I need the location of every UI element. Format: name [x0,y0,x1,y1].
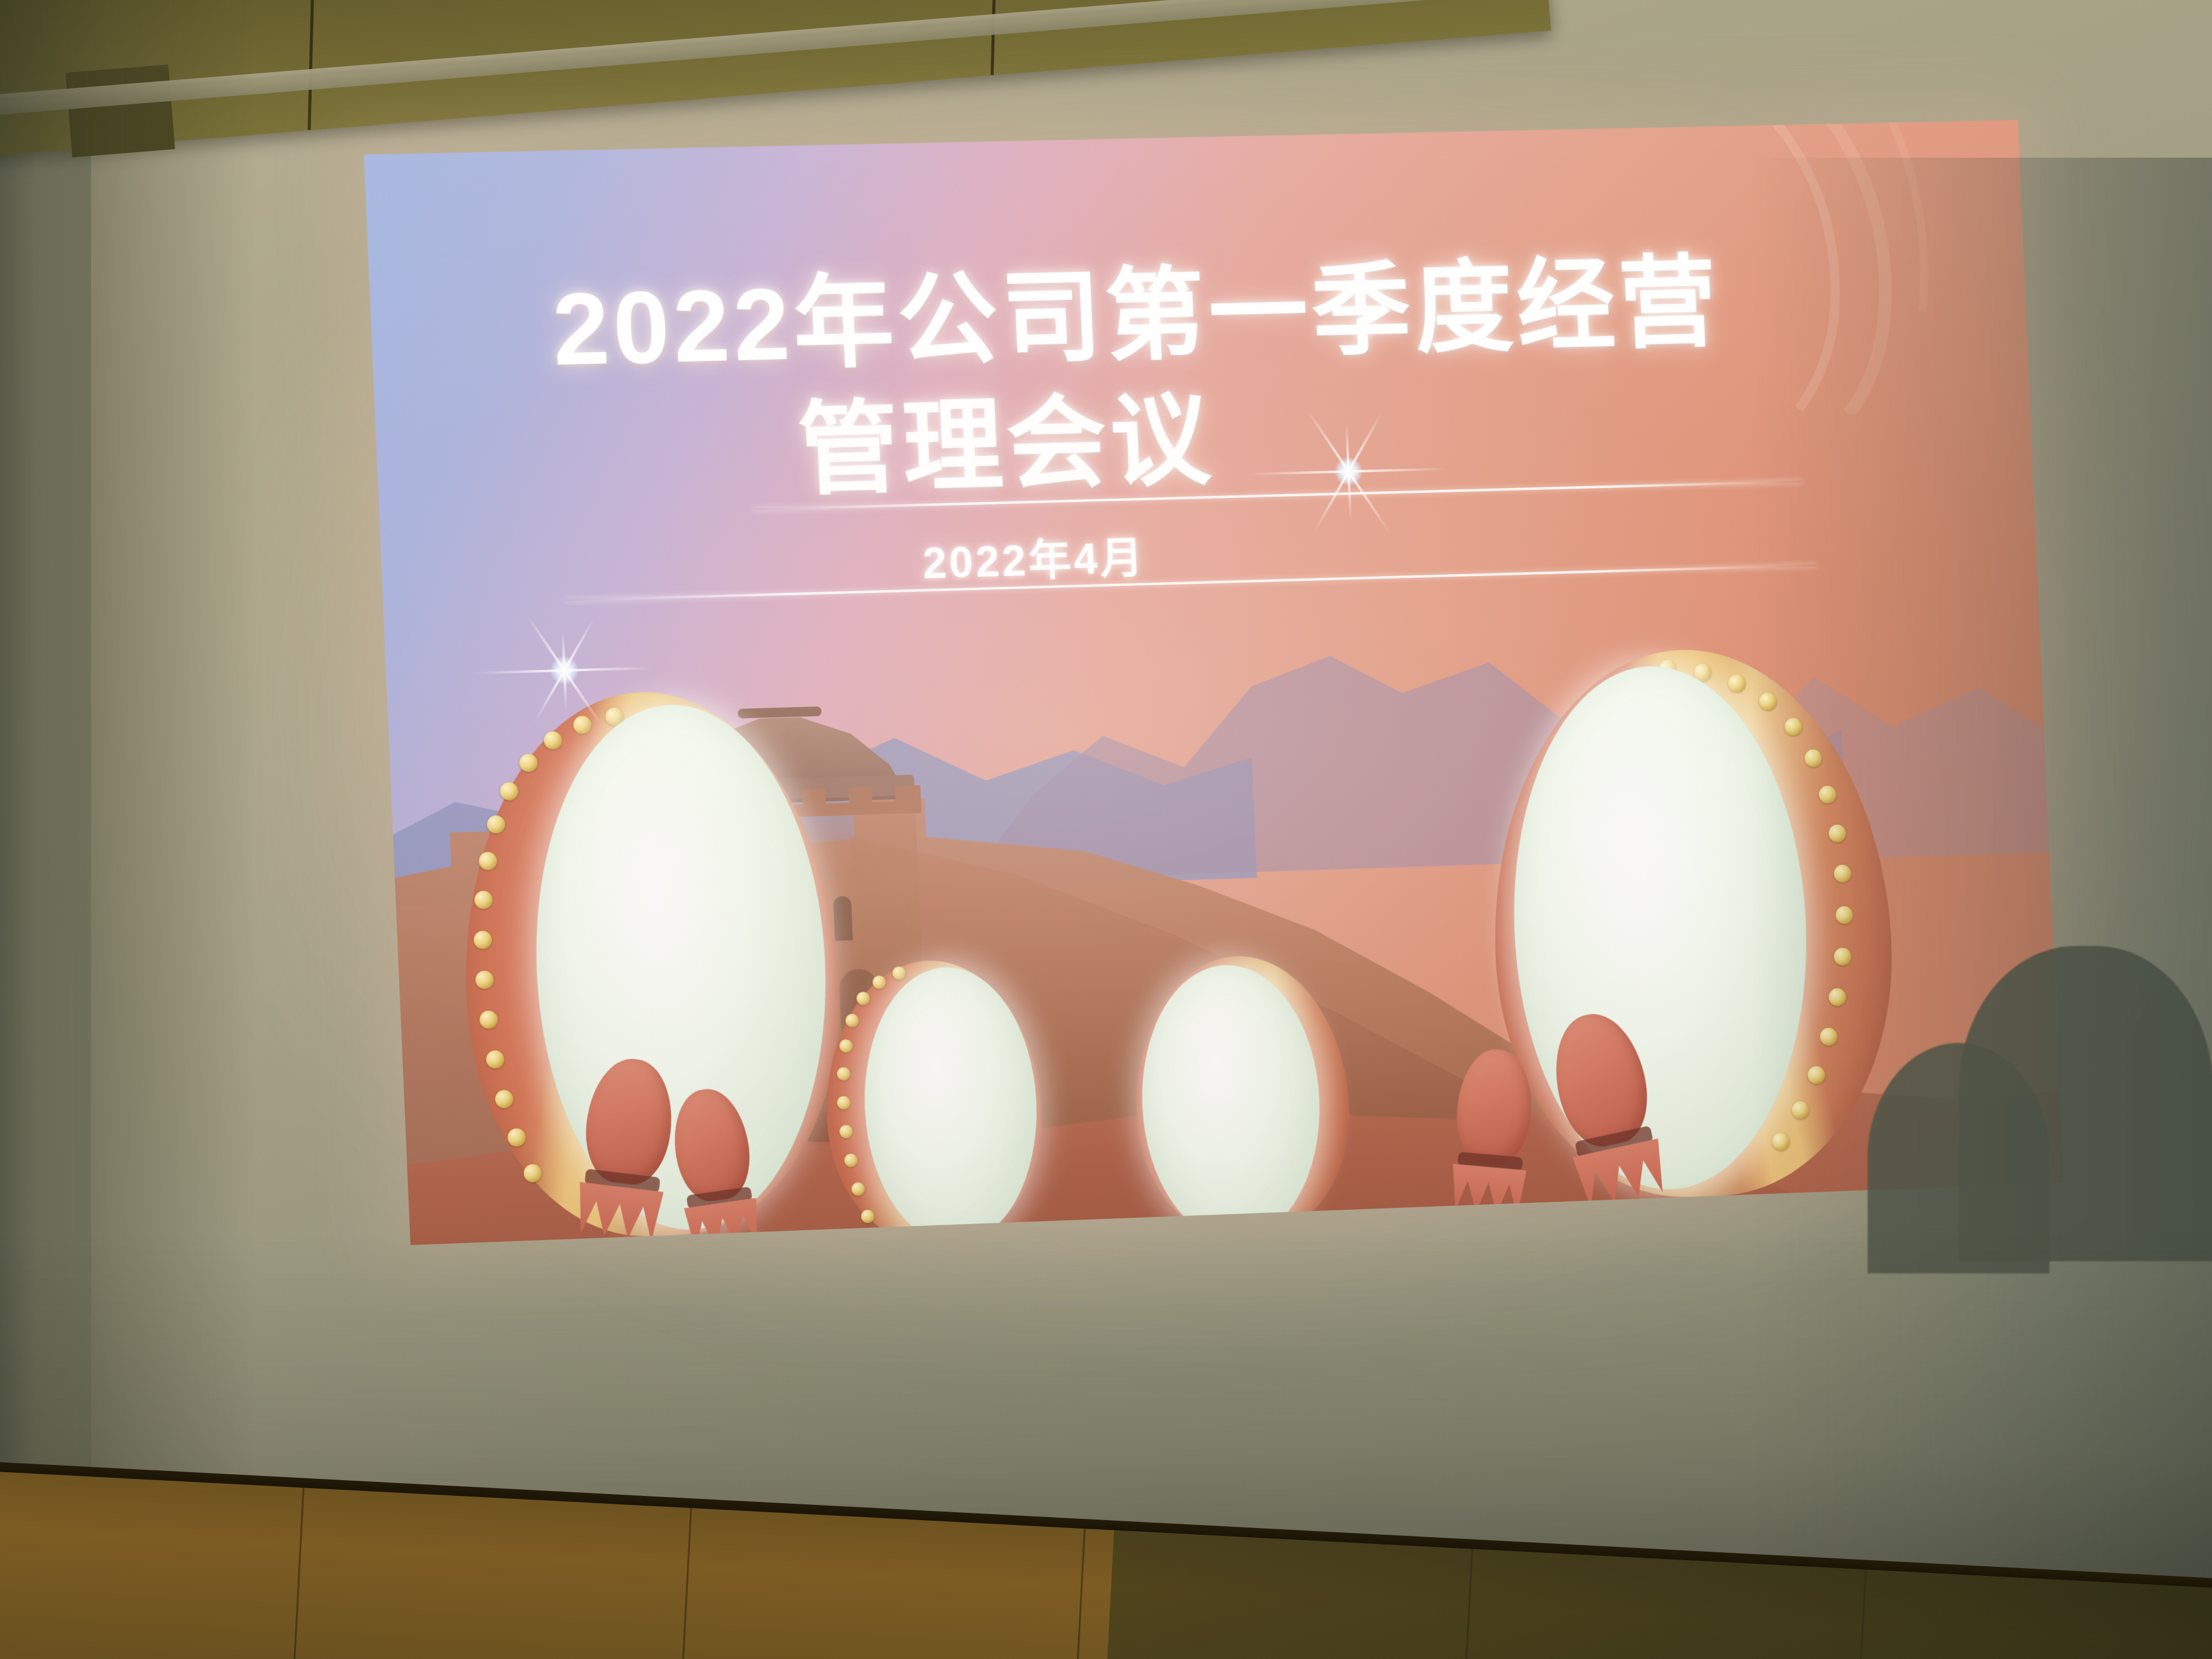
ceiling-grid-line [307,0,315,130]
chinese-drum-center-a [820,957,1047,1245]
ceiling-grid-line [991,0,999,75]
drumstick-right-a [1450,1046,1535,1207]
chinese-drum-center-b [1130,953,1355,1241]
photo-scene: 2022年公司第一季度经营 管理会议 2022年4月 [0,0,2212,1659]
